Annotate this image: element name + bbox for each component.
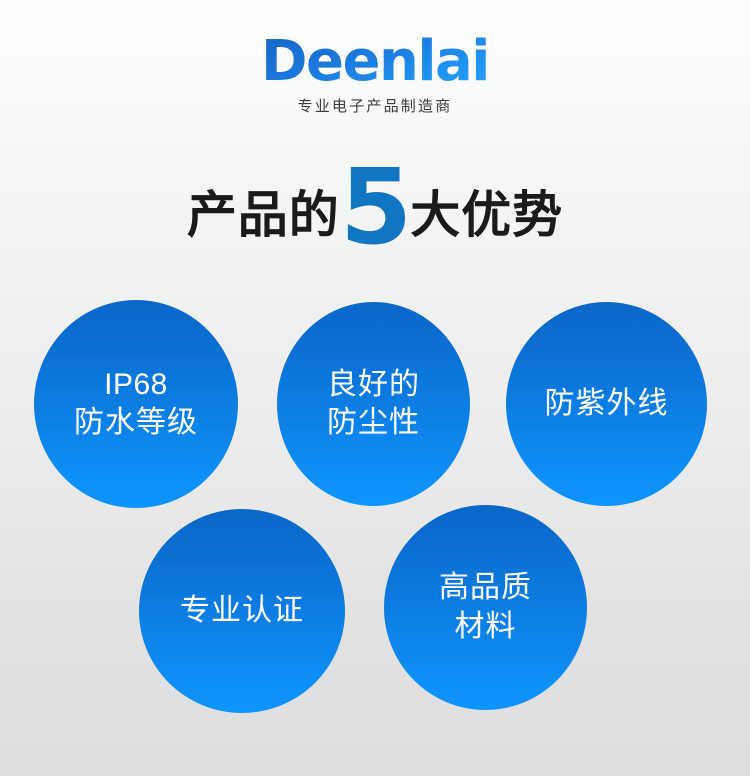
advantage-line-1: 良好的 (327, 366, 420, 404)
page-title: 产品的 5 大优势 (0, 148, 750, 244)
advantage-line-2: 防水等级 (74, 404, 198, 442)
advantage-bubble-certification[interactable]: 专业认证 (139, 509, 345, 713)
brand-header: Deenlai 专业电子产品制造商 (0, 0, 750, 114)
advantage-label: 良好的 防尘性 (321, 366, 426, 443)
advantage-label: 防紫外线 (539, 385, 675, 423)
advantage-label: 专业认证 (174, 592, 310, 630)
page-title-suffix: 大优势 (410, 190, 563, 240)
advantage-line-2: 材料 (439, 608, 532, 646)
brand-logo-wordmark: Deenlai (261, 34, 489, 90)
advantage-bubble-ip68-waterproof[interactable]: IP68 防水等级 (34, 300, 238, 508)
page-title-prefix: 产品的 (187, 190, 340, 240)
advantage-line-1: 专业认证 (180, 592, 304, 630)
advantage-line-1: IP68 (74, 366, 198, 404)
advantage-bubble-uv-resistant[interactable]: 防紫外线 (506, 302, 707, 506)
advantage-line-2: 防尘性 (327, 404, 420, 442)
page-title-number: 5 (340, 165, 410, 250)
brand-tagline: 专业电子产品制造商 (0, 99, 750, 114)
advantage-bubble-dustproof[interactable]: 良好的 防尘性 (277, 302, 470, 506)
advantage-line-1: 高品质 (439, 569, 532, 607)
advantage-line-1: 防紫外线 (545, 385, 669, 423)
advantage-label: IP68 防水等级 (68, 366, 204, 443)
advantage-bubble-group: IP68 防水等级 良好的 防尘性 防紫外线 专业认证 高品质 材料 (0, 0, 750, 776)
advantage-bubble-quality-material[interactable]: 高品质 材料 (384, 505, 587, 710)
advantage-label: 高品质 材料 (433, 569, 538, 646)
